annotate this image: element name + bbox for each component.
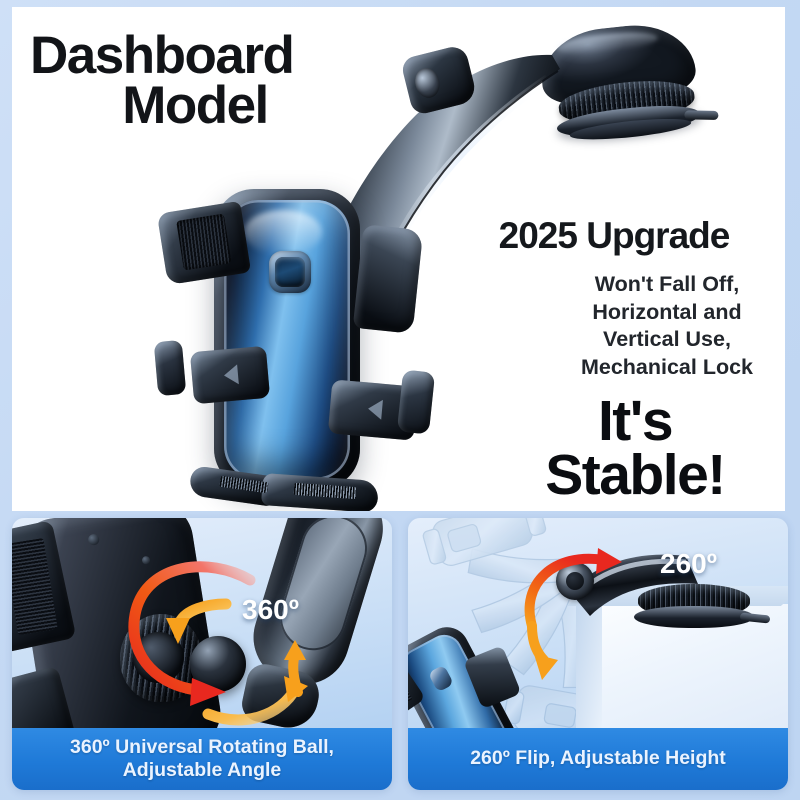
upgrade-heading: 2025 Upgrade (449, 215, 779, 257)
rotation-arrows-360 (12, 518, 392, 728)
card-260-caption: 260º Flip, Adjustable Height (408, 728, 788, 790)
feature-cards: 360º 360º Universal Rotating Ball, Adjus… (12, 518, 788, 790)
left-arrow-icon (223, 364, 239, 385)
suction-release-tab (684, 110, 718, 120)
headline-line-1: Dashboard (30, 31, 360, 81)
right-jaw-pad (353, 224, 424, 334)
release-button-inner (275, 257, 305, 287)
card-360-image: 360º (12, 518, 392, 728)
card-360-caption: 360º Universal Rotating Ball, Adjustable… (12, 728, 392, 790)
right-arrow-icon (367, 399, 383, 420)
headline-line-2: Model (30, 81, 360, 131)
left-jaw-ribs (176, 214, 231, 271)
rotation-label-360: 360º (242, 594, 299, 626)
page-title: Dashboard Model (30, 31, 360, 132)
left-grip-jaw (157, 201, 251, 285)
stable-line-2: Stable! (495, 449, 775, 503)
stable-tagline: It's Stable! (495, 395, 775, 502)
cradle-bottom-tray (190, 463, 410, 511)
phone-cradle (162, 183, 412, 511)
release-button (269, 251, 311, 293)
benefits-text: Won't Fall Off, Horizontal and Vertical … (561, 271, 773, 381)
left-trigger-tab (190, 346, 270, 404)
left-side-knob (154, 340, 187, 396)
right-side-knob (397, 369, 435, 434)
card-260-image: 260º (408, 518, 788, 728)
rotation-label-260: 260º (660, 548, 717, 580)
hero-panel: Dashboard Model 2025 Upgrade Won't Fall … (12, 7, 785, 511)
right-grip-jaw (353, 224, 424, 334)
feature-card-260[interactable]: 260º 260º Flip, Adjustable Height (408, 518, 788, 790)
feature-card-360[interactable]: 360º 360º Universal Rotating Ball, Adjus… (12, 518, 392, 790)
rotation-arrows-260 (408, 518, 788, 728)
